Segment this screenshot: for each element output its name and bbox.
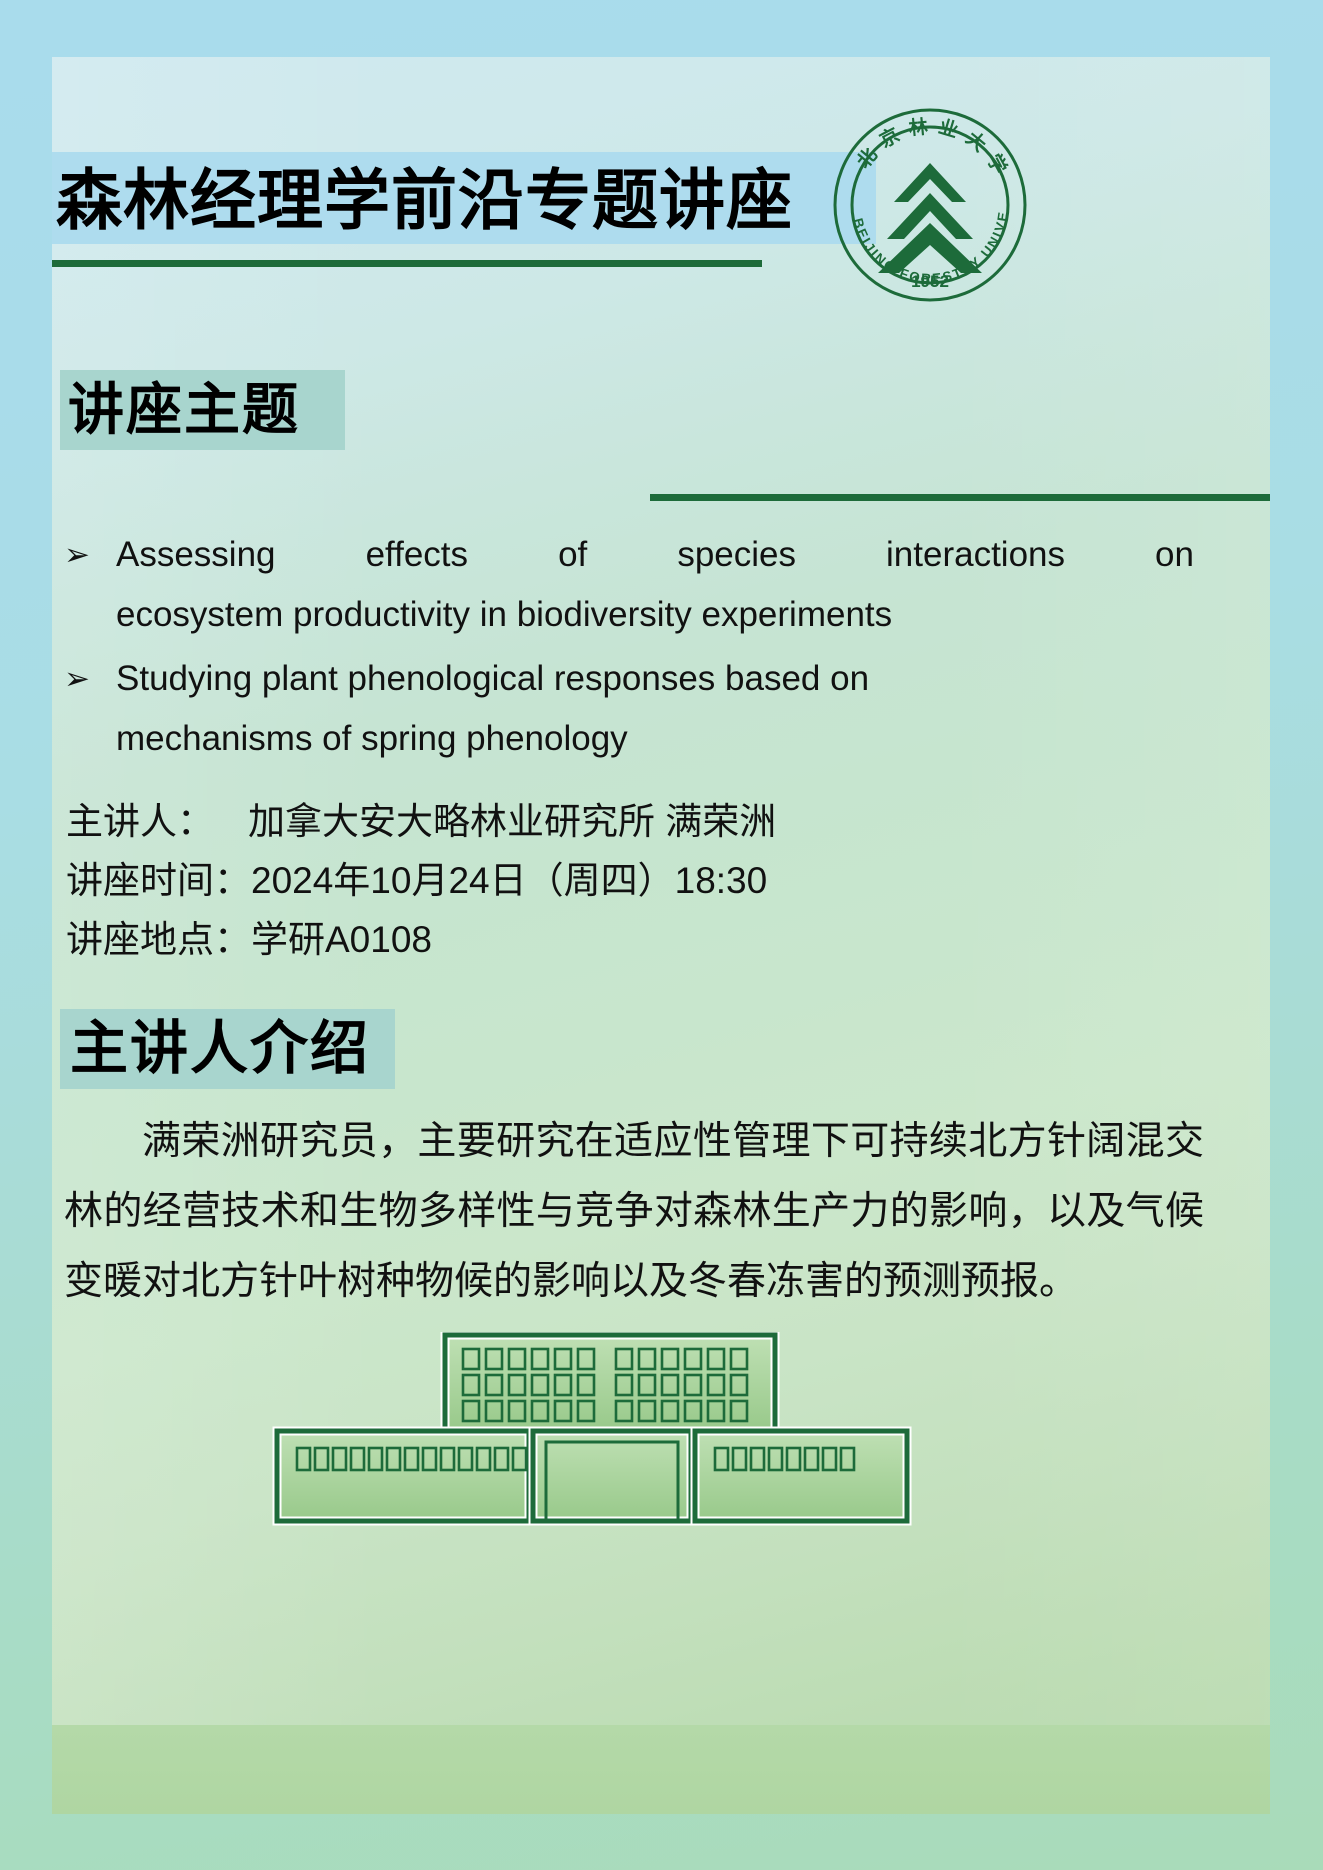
poster-panel: 森林经理学前沿专题讲座 北京林业大学 BEIJING FORESTRY UNIV… [52, 57, 1270, 1814]
speaker-bio: 满荣洲研究员，主要研究在适应性管理下可持续北方针阔混交林的经营技术和生物多样性与… [64, 1107, 1204, 1317]
detail-time-value: 2024年10月24日（周四）18:30 [251, 860, 767, 901]
campus-building-illustration [267, 1332, 1057, 1532]
section-divider-right [650, 494, 1270, 501]
title-divider [52, 260, 762, 267]
bullet-arrow-icon: ➢ [64, 525, 116, 585]
bullet-arrow-icon: ➢ [64, 649, 116, 709]
topic-list: ➢ Assessing effects of species interacti… [64, 525, 1194, 773]
detail-location-label: 讲座地点： [66, 919, 251, 960]
page-title: 森林经理学前沿专题讲座 [56, 153, 886, 247]
detail-time-label: 讲座时间： [66, 860, 251, 901]
detail-speaker: 主讲人：加拿大安大略林业研究所 满荣洲 [66, 792, 1166, 851]
section-heading-topic: 讲座主题 [68, 370, 300, 450]
section-heading-speaker: 主讲人介绍 [70, 1007, 370, 1091]
detail-time: 讲座时间：2024年10月24日（周四）18:30 [66, 851, 1166, 910]
topic-2-line-1: Studying plant phenological responses ba… [116, 649, 1194, 709]
topic-2-line-2: mechanisms of spring phenology [116, 709, 1194, 769]
topic-1-line-1: Assessing effects of species interaction… [116, 525, 1194, 585]
detail-location: 讲座地点：学研A0108 [66, 910, 1166, 969]
beijing-forestry-university-logo-icon: 北京林业大学 BEIJING FORESTRY UNIVERSITY 1952 [830, 105, 1030, 305]
list-item: ➢ Assessing effects of species interacti… [64, 525, 1194, 645]
detail-speaker-value: 加拿大安大略林业研究所 满荣洲 [248, 801, 776, 842]
list-item: ➢ Studying plant phenological responses … [64, 649, 1194, 769]
ground-band [52, 1725, 1270, 1814]
lecture-details: 主讲人：加拿大安大略林业研究所 满荣洲 讲座时间：2024年10月24日（周四）… [66, 792, 1166, 969]
detail-location-value: 学研A0108 [251, 919, 432, 960]
detail-speaker-label: 主讲人： [66, 801, 214, 842]
svg-text:1952: 1952 [911, 272, 949, 291]
topic-1-line-2: ecosystem productivity in biodiversity e… [116, 585, 1194, 645]
